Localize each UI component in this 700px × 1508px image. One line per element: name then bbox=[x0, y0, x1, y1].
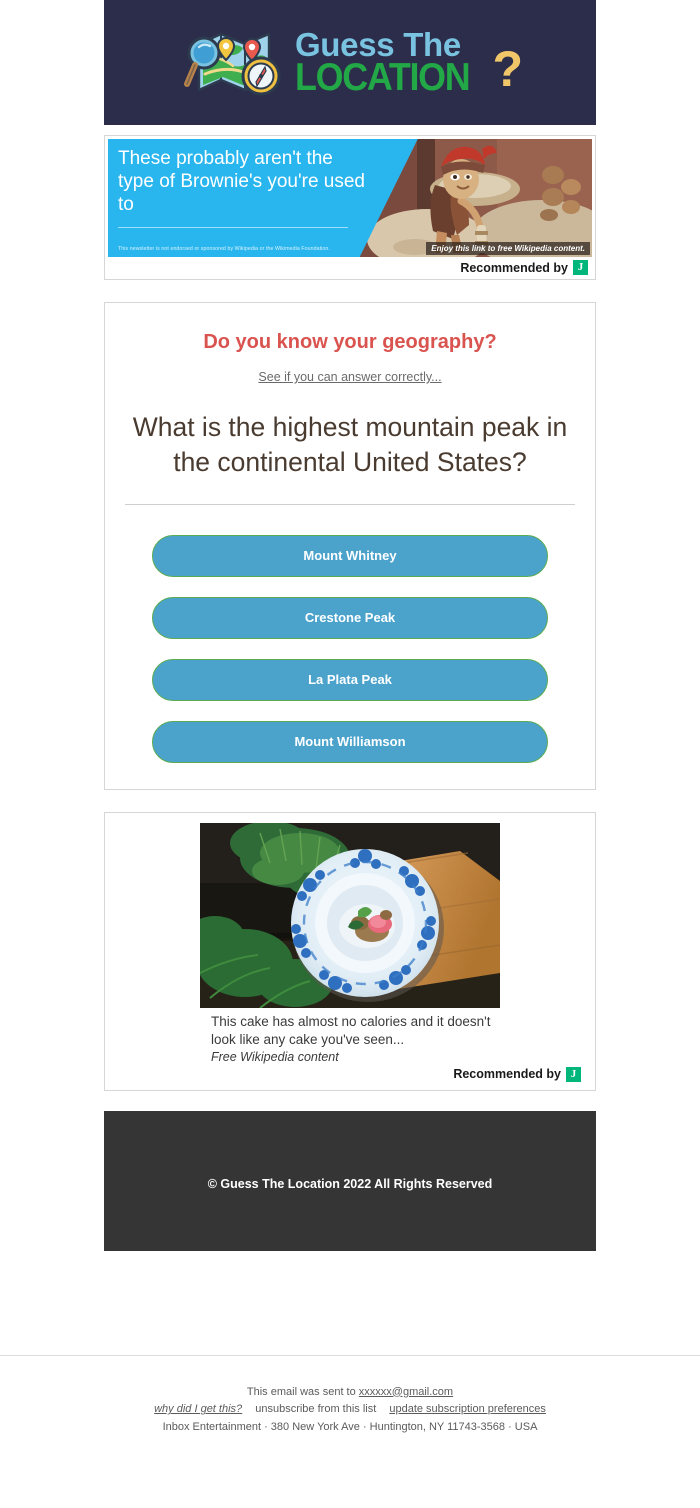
legal-footer: This email was sent to xxxxxx@gmail.com … bbox=[0, 1356, 700, 1437]
legal-sent-to-row: This email was sent to xxxxxx@gmail.com bbox=[0, 1384, 700, 1402]
quiz-heading: Do you know your geography? bbox=[121, 331, 579, 354]
why-did-i-get-this-link[interactable]: why did I get this? bbox=[154, 1403, 242, 1415]
ad-bottom-source: Free Wikipedia content bbox=[211, 1050, 585, 1064]
recommended-by-label: Recommended by bbox=[453, 1067, 561, 1081]
brand-wordmark: Guess The LOCATION bbox=[295, 28, 485, 97]
quiz-answer-list: Mount Whitney Crestone Peak La Plata Pea… bbox=[121, 535, 579, 763]
email-body: Guess The LOCATION ? bbox=[0, 0, 700, 1437]
email-header-banner: Guess The LOCATION ? bbox=[104, 0, 596, 125]
ad-top-rule bbox=[118, 227, 348, 228]
recommended-by-bottom[interactable]: Recommended by J bbox=[115, 1064, 585, 1084]
sponsored-ad-bottom[interactable]: This cake has almost no calories and it … bbox=[104, 812, 596, 1091]
recommended-by-top[interactable]: Recommended by J bbox=[108, 257, 592, 277]
ad-top-headline: These probably aren't the type of Browni… bbox=[118, 147, 368, 217]
unsubscribe-link[interactable]: unsubscribe from this list bbox=[255, 1403, 376, 1415]
ad-top-image-caption: Enjoy this link to free Wikipedia conten… bbox=[426, 242, 590, 255]
answer-option-3[interactable]: La Plata Peak bbox=[152, 659, 548, 701]
brand-line-2: LOCATION bbox=[295, 58, 469, 97]
brand-question-mark: ? bbox=[493, 40, 524, 98]
folded-map-magnifier-compass-icon bbox=[177, 22, 289, 104]
quiz-question: What is the highest mountain peak in the… bbox=[129, 410, 571, 480]
footer-copyright: © Guess The Location 2022 All Rights Res… bbox=[208, 1177, 493, 1191]
ad-bottom-title[interactable]: This cake has almost no calories and it … bbox=[211, 1013, 511, 1049]
sponsored-ad-top[interactable]: These probably aren't the type of Browni… bbox=[104, 135, 596, 280]
brand-logo[interactable]: Guess The LOCATION ? bbox=[177, 22, 523, 104]
quiz-card: Do you know your geography? See if you c… bbox=[104, 302, 596, 790]
ad-bottom-image[interactable] bbox=[200, 823, 500, 1008]
legal-recipient-email[interactable]: xxxxxx@gmail.com bbox=[359, 1386, 453, 1398]
recommended-by-label: Recommended by bbox=[460, 261, 568, 275]
quiz-subheading-link[interactable]: See if you can answer correctly... bbox=[121, 370, 579, 384]
legal-address: Inbox Entertainment · 380 New York Ave ·… bbox=[0, 1419, 700, 1437]
ad-top-disclaimer: This newsletter is not endorsed or spons… bbox=[118, 246, 330, 252]
outbrain-logo-icon: J bbox=[566, 1067, 581, 1082]
answer-option-1[interactable]: Mount Whitney bbox=[152, 535, 548, 577]
legal-links-row: why did I get this? unsubscribe from thi… bbox=[0, 1401, 700, 1419]
dessert-plate-photo bbox=[200, 823, 500, 1008]
answer-option-2[interactable]: Crestone Peak bbox=[152, 597, 548, 639]
update-preferences-link[interactable]: update subscription preferences bbox=[389, 1403, 546, 1415]
legal-sent-to-prefix: This email was sent to bbox=[247, 1386, 356, 1398]
quiz-divider bbox=[125, 504, 575, 505]
footer-dark-band: © Guess The Location 2022 All Rights Res… bbox=[104, 1111, 596, 1251]
outbrain-logo-icon: J bbox=[573, 260, 588, 275]
answer-option-4[interactable]: Mount Williamson bbox=[152, 721, 548, 763]
ad-top-banner[interactable]: These probably aren't the type of Browni… bbox=[108, 139, 592, 257]
